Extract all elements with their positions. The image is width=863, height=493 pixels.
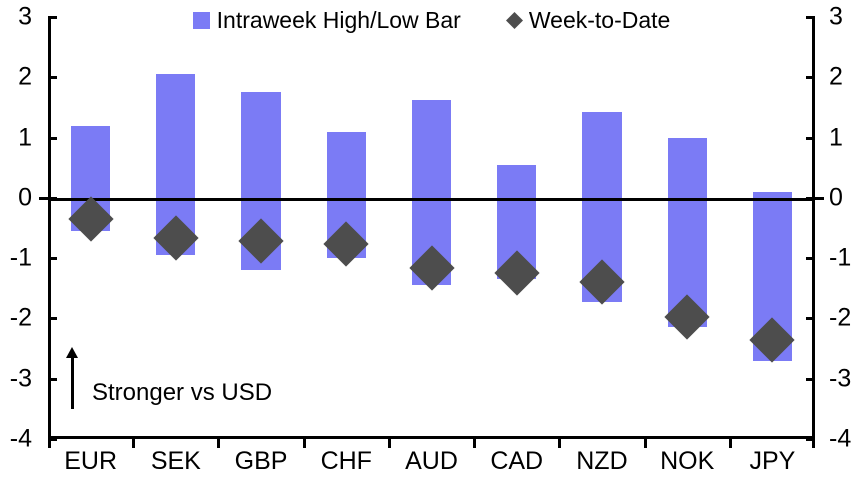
y-tick-left-3	[48, 16, 57, 19]
y-tick-label-right--4: -4	[829, 427, 851, 452]
x-tick-9	[812, 436, 815, 448]
y-axis-left-labels: 3210-1-2-3-4	[0, 17, 44, 439]
y-tick-left--3	[48, 378, 57, 381]
x-axis-line	[48, 436, 815, 439]
y-tick-right--3	[806, 378, 815, 381]
y-axis-right-line	[812, 17, 815, 439]
x-tick-3	[303, 436, 306, 448]
y-tick-label-left-2: 2	[18, 65, 32, 90]
zero-baseline	[48, 198, 815, 201]
y-tick-label-right-1: 1	[829, 125, 843, 150]
arrow-up-icon	[64, 347, 82, 409]
x-tick-2	[217, 436, 220, 448]
y-tick-label-left-3: 3	[18, 5, 32, 30]
y-tick-label-left--4: -4	[10, 427, 32, 452]
x-axis-label-nok: NOK	[660, 449, 714, 474]
y-axis-right-labels: 3210-1-2-3-4	[819, 17, 863, 439]
x-tick-7	[644, 436, 647, 448]
y-tick-label-right-0: 0	[829, 185, 843, 210]
x-axis-label-sek: SEK	[151, 449, 201, 474]
y-tick-right--2	[806, 317, 815, 320]
x-axis-label-nzd: NZD	[576, 449, 627, 474]
x-axis-label-eur: EUR	[64, 449, 117, 474]
y-tick-label-right-2: 2	[829, 65, 843, 90]
y-tick-left--2	[48, 317, 57, 320]
y-tick-right-2	[806, 76, 815, 79]
y-tick-label-left-1: 1	[18, 125, 32, 150]
y-tick-label-right--1: -1	[829, 246, 851, 271]
y-tick-right--1	[806, 257, 815, 260]
x-tick-5	[473, 436, 476, 448]
x-tick-8	[729, 436, 732, 448]
x-axis-label-gbp: GBP	[235, 449, 288, 474]
plot-area: Stronger vs USD	[48, 17, 815, 439]
x-tick-0	[48, 436, 51, 448]
x-axis-labels: EURSEKGBPCHFAUDCADNZDNOKJPY	[48, 449, 815, 489]
y-tick-label-left--3: -3	[10, 366, 32, 391]
x-tick-6	[558, 436, 561, 448]
y-tick-label-right-3: 3	[829, 5, 843, 30]
y-tick-left-2	[48, 76, 57, 79]
x-axis-label-jpy: JPY	[749, 449, 795, 474]
x-tick-1	[132, 436, 135, 448]
stronger-vs-usd-annotation: Stronger vs USD	[64, 347, 272, 409]
y-tick-label-left--1: -1	[10, 246, 32, 271]
y-axis-left-line	[48, 17, 51, 439]
y-tick-label-right--3: -3	[829, 366, 851, 391]
y-tick-label-right--2: -2	[829, 306, 851, 331]
x-axis-label-cad: CAD	[490, 449, 543, 474]
x-tick-4	[388, 436, 391, 448]
y-tick-left--1	[48, 257, 57, 260]
y-tick-right-1	[806, 137, 815, 140]
y-tick-label-left-0: 0	[18, 185, 32, 210]
y-tick-right-3	[806, 16, 815, 19]
x-axis-label-aud: AUD	[405, 449, 458, 474]
currency-performance-chart: Intraweek High/Low Bar Week-to-Date 3210…	[0, 0, 863, 493]
x-axis-label-chf: CHF	[321, 449, 372, 474]
annotation-label: Stronger vs USD	[92, 381, 272, 409]
y-tick-label-left--2: -2	[10, 306, 32, 331]
y-tick-left-1	[48, 137, 57, 140]
